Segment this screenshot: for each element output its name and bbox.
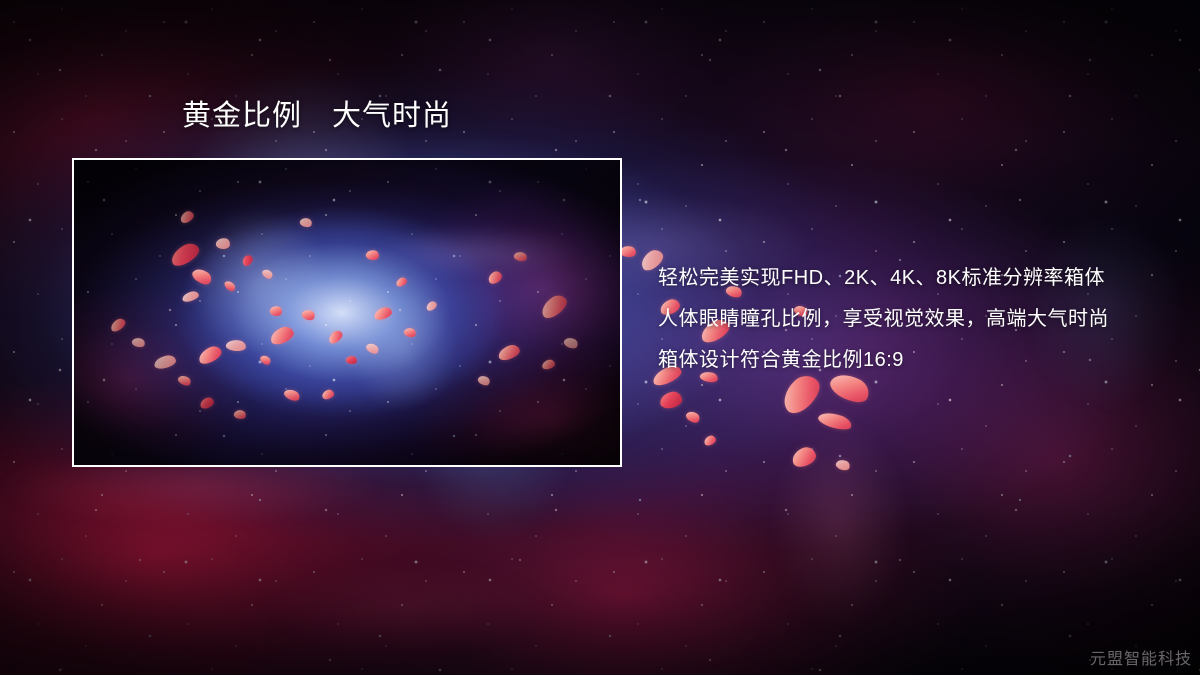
petal bbox=[790, 445, 818, 469]
body-line-1: 轻松完美实现FHD、2K、4K、8K标准分辨率箱体 bbox=[658, 258, 1138, 299]
petal bbox=[835, 458, 852, 473]
watermark: 元盟智能科技 bbox=[1090, 645, 1192, 669]
petal bbox=[703, 434, 717, 447]
presentation-slide: 黄金比例 大气时尚 轻松完美实现FHD、2K、4K、8K标准分辨率箱体 人体眼睛… bbox=[0, 0, 1200, 675]
petal bbox=[684, 409, 701, 425]
page-title: 黄金比例 大气时尚 bbox=[182, 101, 452, 133]
petal bbox=[659, 391, 683, 410]
petal bbox=[817, 409, 854, 433]
body-line-3: 箱体设计符合黄金比例16:9 bbox=[658, 340, 1138, 381]
framed-photo bbox=[72, 158, 622, 467]
body-line-2: 人体眼睛瞳孔比例，享受视觉效果，高端大气时尚 bbox=[658, 299, 1138, 340]
body-text-block: 轻松完美实现FHD、2K、4K、8K标准分辨率箱体 人体眼睛瞳孔比例，享受视觉效… bbox=[658, 258, 1138, 381]
photo-vignette bbox=[74, 160, 620, 465]
photo-content bbox=[74, 160, 620, 465]
